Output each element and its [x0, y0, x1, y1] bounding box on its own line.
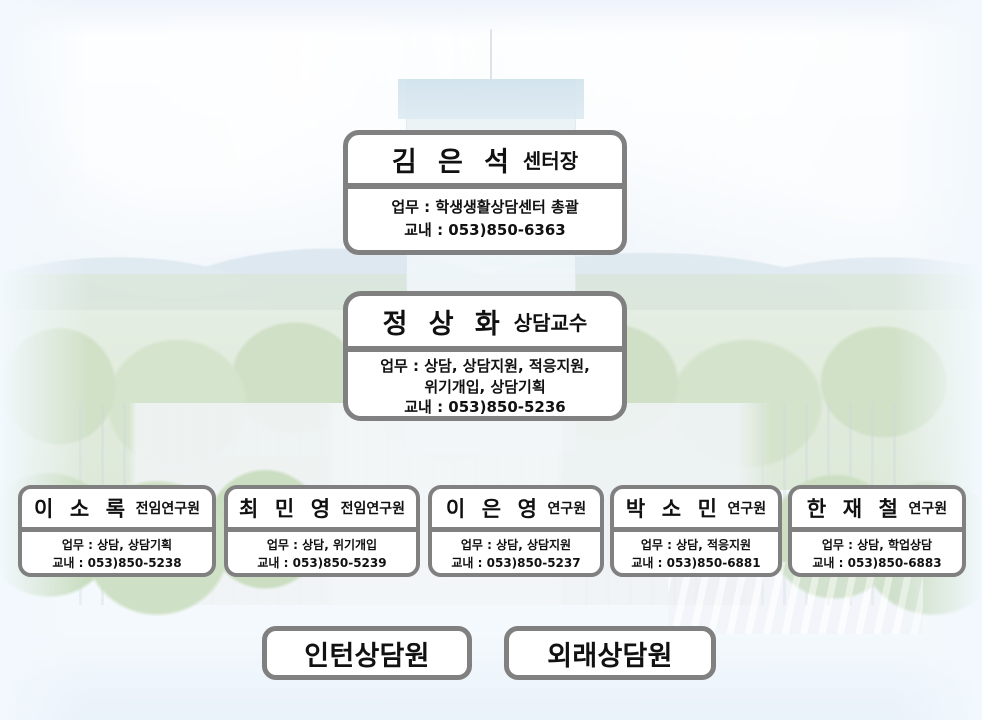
phone-line: 교내 : 053)850-5239 — [228, 554, 416, 572]
org-node-details: 업무 : 상담, 위기개입 교내 : 053)850-5239 — [228, 532, 416, 574]
phone-line: 교내 : 053)850-6883 — [792, 554, 962, 572]
org-node-header: 최 민 영 전임연구원 — [228, 489, 416, 527]
phone-line: 교내 : 053)850-5237 — [432, 554, 600, 572]
org-node-header: 한 재 철 연구원 — [792, 489, 962, 527]
org-node-header: 정 상 화 상담교수 — [348, 296, 622, 346]
org-node-researcher: 이 소 록 전임연구원 업무 : 상담, 상담기획 교내 : 053)850-5… — [18, 485, 216, 577]
org-node-header: 이 소 록 전임연구원 — [22, 489, 212, 527]
duty-line: 업무 : 상담, 위기개입 — [228, 536, 416, 554]
org-node-center-director: 김 은 석 센터장 업무 : 학생생활상담센터 총괄 교내 : 053)850-… — [343, 130, 627, 255]
person-title: 전임연구원 — [136, 498, 200, 518]
duty-line: 업무 : 학생생활상담센터 총괄 — [348, 196, 622, 219]
org-node-researcher: 이 은 영 연구원 업무 : 상담, 상담지원 교내 : 053)850-523… — [428, 485, 604, 577]
person-name: 최 민 영 — [239, 493, 335, 523]
phone-line: 교내 : 053)850-5236 — [348, 397, 622, 418]
background-tower-mast — [490, 29, 492, 87]
person-title: 연구원 — [728, 498, 767, 518]
duty-line: 업무 : 상담, 상담지원 — [432, 536, 600, 554]
duty-line: 업무 : 상담, 학업상담 — [792, 536, 962, 554]
person-title: 연구원 — [548, 498, 587, 518]
background-tower-top — [398, 79, 584, 119]
duty-line-2: 위기개입, 상담기획 — [348, 377, 622, 398]
person-title: 전임연구원 — [341, 498, 405, 518]
org-node-counseling-professor: 정 상 화 상담교수 업무 : 상담, 상담지원, 적응지원, 위기개입, 상담… — [343, 291, 627, 421]
duty-line: 업무 : 상담, 적응지원 — [614, 536, 778, 554]
person-title: 연구원 — [909, 498, 948, 518]
duty-line-1: 업무 : 상담, 상담지원, 적응지원, — [348, 356, 622, 377]
org-node-details: 업무 : 상담, 상담지원 교내 : 053)850-5237 — [432, 532, 600, 574]
person-title: 센터장 — [523, 145, 578, 174]
person-name: 정 상 화 — [383, 302, 506, 341]
phone-line: 교내 : 053)850-6363 — [348, 219, 622, 242]
org-chart: 김 은 석 센터장 업무 : 학생생활상담센터 총괄 교내 : 053)850-… — [0, 0, 982, 720]
org-node-details: 업무 : 상담, 학업상담 교내 : 053)850-6883 — [792, 532, 962, 574]
org-node-details: 업무 : 상담, 적응지원 교내 : 053)850-6881 — [614, 532, 778, 574]
org-node-researcher: 박 소 민 연구원 업무 : 상담, 적응지원 교내 : 053)850-688… — [610, 485, 782, 577]
org-node-details: 업무 : 학생생활상담센터 총괄 교내 : 053)850-6363 — [348, 189, 622, 245]
person-name: 이 은 영 — [446, 493, 542, 523]
node-label: 외래상담원 — [547, 634, 673, 673]
person-name: 박 소 민 — [626, 493, 722, 523]
person-name: 한 재 철 — [807, 493, 903, 523]
person-title: 상담교수 — [514, 307, 588, 336]
org-node-details: 업무 : 상담, 상담지원, 적응지원, 위기개입, 상담기획 교내 : 053… — [348, 352, 622, 420]
org-node-header: 김 은 석 센터장 — [348, 135, 622, 183]
org-node-intern-counselor: 인턴상담원 — [262, 626, 472, 680]
org-node-header: 박 소 민 연구원 — [614, 489, 778, 527]
org-node-header: 이 은 영 연구원 — [432, 489, 600, 527]
phone-line: 교내 : 053)850-6881 — [614, 554, 778, 572]
person-name: 김 은 석 — [392, 140, 515, 179]
duty-line: 업무 : 상담, 상담기획 — [22, 536, 212, 554]
org-node-researcher: 한 재 철 연구원 업무 : 상담, 학업상담 교내 : 053)850-688… — [788, 485, 966, 577]
phone-line: 교내 : 053)850-5238 — [22, 554, 212, 572]
org-node-external-counselor: 외래상담원 — [504, 626, 716, 680]
org-node-details: 업무 : 상담, 상담기획 교내 : 053)850-5238 — [22, 532, 212, 574]
person-name: 이 소 록 — [34, 493, 130, 523]
node-label: 인턴상담원 — [304, 634, 430, 673]
org-node-researcher: 최 민 영 전임연구원 업무 : 상담, 위기개입 교내 : 053)850-5… — [224, 485, 420, 577]
